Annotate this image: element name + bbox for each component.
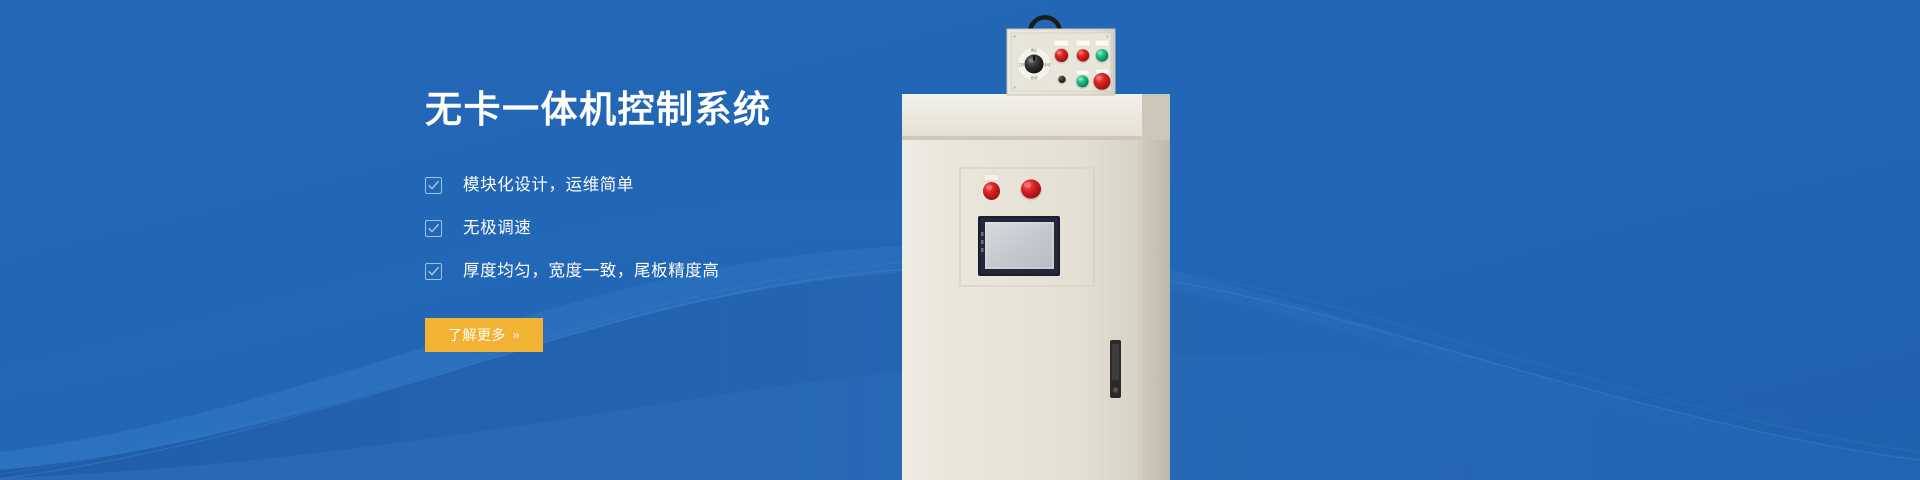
page-title: 无卡一体机控制系统 <box>425 88 1065 132</box>
learn-more-label: 了解更多 <box>448 328 506 342</box>
list-item: 模块化设计，运维简单 <box>425 174 1065 196</box>
control-box: 停止 工作 手动 自动 <box>1007 17 1115 95</box>
list-item: 无极调速 <box>425 217 1065 239</box>
run-button-green <box>1095 40 1109 63</box>
hero-banner: 停止 工作 手动 自动 <box>0 0 1920 480</box>
check-square-icon <box>425 263 442 280</box>
double-chevron-right-icon: » <box>513 329 520 341</box>
cabinet-door-handle <box>1110 340 1121 398</box>
feature-label: 模块化设计，运维简单 <box>463 177 634 194</box>
check-square-icon <box>425 220 442 237</box>
svg-text:停止: 停止 <box>1031 48 1038 53</box>
selector-knob-icon: 停止 工作 手动 自动 <box>1017 47 1051 81</box>
small-black-knob <box>1057 75 1066 84</box>
emergency-stop-button-1 <box>1054 40 1069 64</box>
feature-label: 厚度均匀，宽度一致，尾板精度高 <box>463 263 720 280</box>
hero-content: 无卡一体机控制系统 模块化设计，运维简单 无极调速 <box>425 88 1065 352</box>
svg-text:手动: 手动 <box>1044 62 1050 67</box>
learn-more-button[interactable]: 了解更多 » <box>425 318 543 352</box>
svg-text:工作: 工作 <box>1018 62 1025 67</box>
list-item: 厚度均匀，宽度一致，尾板精度高 <box>425 260 1065 282</box>
alarm-button <box>1076 40 1090 63</box>
check-square-icon <box>425 177 442 194</box>
start-button-green <box>1076 70 1090 89</box>
feature-list: 模块化设计，运维简单 无极调速 厚度均匀，宽度一致，尾板精度高 <box>425 174 1065 282</box>
svg-text:自动: 自动 <box>1031 75 1038 80</box>
feature-label: 无极调速 <box>463 220 531 237</box>
